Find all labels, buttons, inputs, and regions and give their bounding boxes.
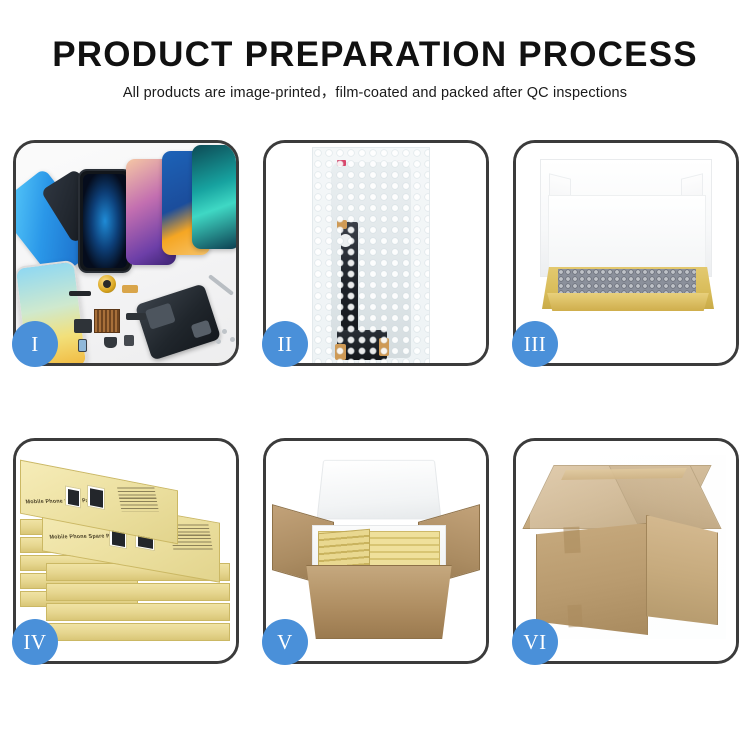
step-badge-6: VI xyxy=(512,619,558,665)
bubble-wrap-bag xyxy=(312,147,430,363)
carton-body xyxy=(300,565,458,639)
page-subtitle: All products are image-printed，film-coat… xyxy=(0,83,750,103)
phone-black-display xyxy=(78,169,132,273)
retail-box-slab-8 xyxy=(46,603,230,621)
carton-side-face xyxy=(646,515,718,625)
chip-grid-part xyxy=(94,309,120,333)
speaker-part xyxy=(69,291,91,296)
process-step-panel-4: Mobile Phone Spare Parts Mobile Phone Sp… xyxy=(13,438,239,664)
retail-box-slab-7 xyxy=(46,583,230,601)
process-step-panel-1: I xyxy=(13,140,239,366)
camera-module-part xyxy=(124,335,134,346)
carton-seam-bottom xyxy=(567,605,582,628)
wireless-charging-coil-part xyxy=(98,275,116,293)
retail-box-slab-9 xyxy=(46,623,230,641)
carton-seam-top xyxy=(563,527,580,554)
taptic-engine-part xyxy=(104,337,117,348)
flex-cable-part-1 xyxy=(74,319,92,333)
step-badge-5: V xyxy=(262,619,308,665)
bubble-texture-overlay xyxy=(313,148,429,363)
foam-lid xyxy=(317,460,442,520)
process-step-panel-6: VI xyxy=(513,438,739,664)
step-badge-1: I xyxy=(12,321,58,367)
phone-back-housing xyxy=(135,283,221,360)
retail-box-screen-image-2 xyxy=(87,485,105,510)
white-foam-sheet xyxy=(548,195,706,277)
flex-cable-part-2 xyxy=(122,285,138,293)
tweezers-tool xyxy=(208,274,234,296)
phone-teal-display xyxy=(192,145,236,249)
screw-part-1 xyxy=(222,329,227,334)
page-title: PRODUCT PREPARATION PROCESS xyxy=(0,34,750,76)
screw-part-2 xyxy=(230,337,235,342)
step-badge-3: III xyxy=(512,321,558,367)
step-badge-4: IV xyxy=(12,619,58,665)
step-badge-2: II xyxy=(262,321,308,367)
carton-front-face xyxy=(536,523,648,635)
retail-box-spec-lines-1 xyxy=(117,487,159,511)
retail-box-stack: Mobile Phone Spare Parts Mobile Phone Sp… xyxy=(20,463,236,653)
retail-box-screen-image-1 xyxy=(65,485,81,508)
screw-part-3 xyxy=(216,339,221,344)
process-step-panel-5: V xyxy=(263,438,489,664)
process-step-panel-2: II xyxy=(263,140,489,366)
yellow-tray-front-edge xyxy=(542,293,714,311)
header: PRODUCT PREPARATION PROCESS All products… xyxy=(0,34,750,103)
product-preparation-infographic: PRODUCT PREPARATION PROCESS All products… xyxy=(0,0,750,750)
sim-tray-part xyxy=(78,339,87,352)
process-step-panel-3: III xyxy=(513,140,739,366)
process-step-grid: I II xyxy=(13,140,739,692)
flex-cable-part-3 xyxy=(126,313,146,320)
